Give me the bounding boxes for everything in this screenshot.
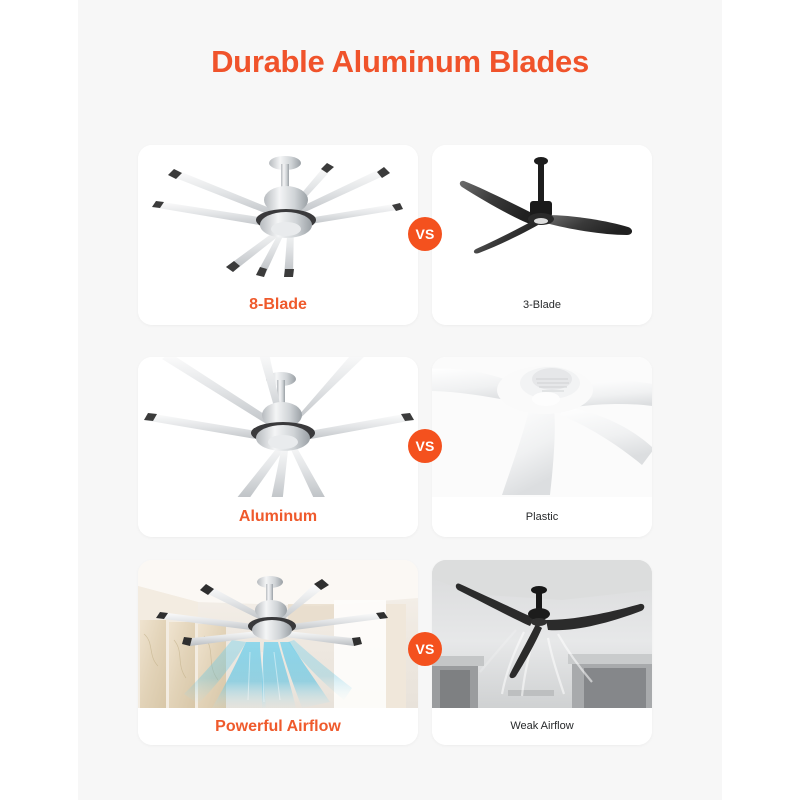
- room-with-strong-blue-airflow-image: [138, 560, 418, 708]
- comparison-card-bad[interactable]: Weak Airflow: [432, 560, 652, 745]
- black-3-blade-ceiling-fan-image: [432, 145, 652, 285]
- vs-badge: VS: [408, 217, 442, 251]
- comparison-label-bad: Weak Airflow: [432, 708, 652, 745]
- comparison-card-good[interactable]: Powerful Airflow: [138, 560, 418, 745]
- comparison-row-airflow: Powerful Airflow VS: [0, 560, 800, 745]
- silver-8-blade-ceiling-fan-image: [138, 145, 418, 285]
- comparison-card-bad[interactable]: 3-Blade: [432, 145, 652, 325]
- comparison-card-good[interactable]: 8-Blade: [138, 145, 418, 325]
- vs-badge: VS: [408, 632, 442, 666]
- page-title: Durable Aluminum Blades: [78, 44, 722, 80]
- comparison-row-material: Aluminum VS: [0, 357, 800, 537]
- comparison-row-blade-count: 8-Blade VS: [0, 145, 800, 325]
- comparison-label-bad: 3-Blade: [432, 285, 652, 325]
- infographic-page: Durable Aluminum Blades: [0, 0, 800, 800]
- silver-aluminum-blades-closeup-image: [138, 357, 418, 497]
- comparison-label-bad: Plastic: [432, 497, 652, 537]
- comparison-card-bad[interactable]: Plastic: [432, 357, 652, 537]
- comparison-label-good: Aluminum: [138, 497, 418, 537]
- comparison-card-good[interactable]: Aluminum: [138, 357, 418, 537]
- comparison-label-good: 8-Blade: [138, 285, 418, 325]
- white-plastic-blades-closeup-image: [432, 357, 652, 497]
- vs-badge: VS: [408, 429, 442, 463]
- gray-room-with-weak-airflow-image: [432, 560, 652, 708]
- comparison-label-good: Powerful Airflow: [138, 708, 418, 745]
